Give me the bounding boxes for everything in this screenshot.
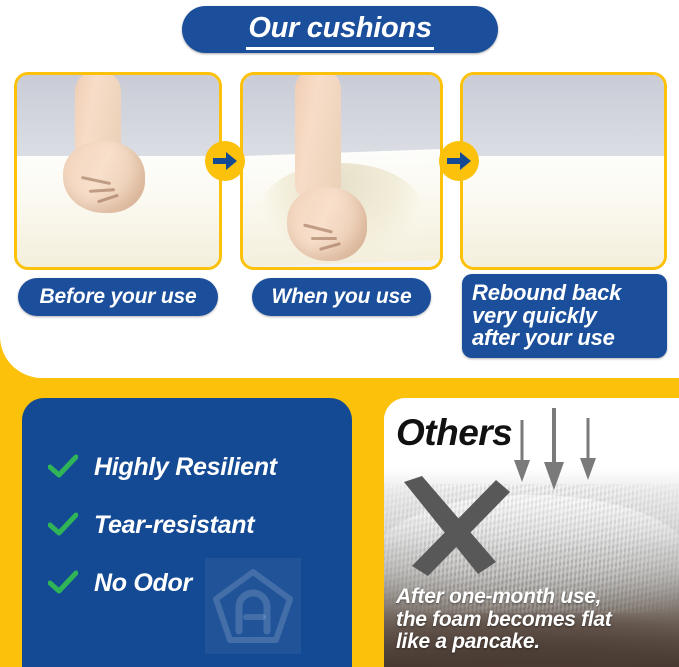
others-title: Others [396, 412, 512, 454]
foam-cushion-surface [463, 156, 664, 267]
others-caption-line-1: After one-month use, [396, 586, 671, 608]
knuckle-line [319, 242, 341, 251]
others-caption-line-3: like a pancake. [396, 631, 671, 653]
knuckle-line [81, 176, 111, 185]
title-underline [246, 47, 433, 50]
page-title-inner: Our cushions [248, 14, 431, 46]
knuckle-line [303, 223, 333, 233]
fist-shape [287, 187, 367, 261]
feature-item: Highly Resilient [48, 438, 346, 496]
knuckle-line [89, 188, 115, 193]
knuckle-line [311, 237, 337, 240]
others-caption: After one-month use, the foam becomes fl… [396, 586, 671, 653]
photo-background-wall [463, 75, 664, 159]
feature-item: Tear-resistant [48, 496, 346, 554]
caption-when-you-use: When you use [252, 278, 431, 316]
others-comparison-panel: Others After o [384, 398, 679, 667]
check-icon [48, 512, 78, 538]
three-down-arrows-icon [512, 406, 608, 499]
caption-lines: Rebound back very quickly after your use [472, 282, 621, 349]
feature-label: No Odor [94, 569, 192, 598]
fist-shape [63, 141, 145, 213]
demo-panel-row [0, 72, 679, 270]
feature-label: Highly Resilient [94, 453, 277, 482]
features-panel: Highly Resilient Tear-resistant No Odor [22, 398, 352, 667]
knuckle-line [97, 194, 119, 204]
page-title-banner: Our cushions [182, 6, 498, 53]
caption-line-1: Rebound back [472, 282, 621, 304]
demo-photo-after [460, 72, 667, 270]
arrow-right-icon-2 [439, 141, 479, 181]
caption-rebound-back: Rebound back very quickly after your use [462, 274, 667, 358]
others-caption-line-2: the foam becomes flat [396, 609, 671, 631]
demo-photo-during [240, 72, 443, 270]
feature-list: Highly Resilient Tear-resistant No Odor [48, 438, 346, 612]
check-icon [48, 570, 78, 596]
check-icon [48, 454, 78, 480]
caption-line-2: very quickly [472, 305, 621, 327]
forearm-shape [295, 72, 341, 199]
feature-item: No Odor [48, 554, 346, 612]
caption-text: Before your use [40, 285, 197, 309]
caption-line-3: after your use [472, 327, 621, 349]
feature-label: Tear-resistant [94, 511, 254, 540]
product-infographic: Our cushions [0, 0, 679, 667]
pentagon-house-logo-watermark [205, 558, 301, 654]
page-title: Our cushions [248, 14, 431, 43]
caption-before-your-use: Before your use [18, 278, 218, 316]
caption-text: When you use [272, 285, 412, 309]
photo-background-wall [243, 75, 440, 159]
x-cross-mark-icon [392, 474, 512, 589]
arrow-right-icon-1 [205, 141, 245, 181]
demo-photo-before [14, 72, 222, 270]
